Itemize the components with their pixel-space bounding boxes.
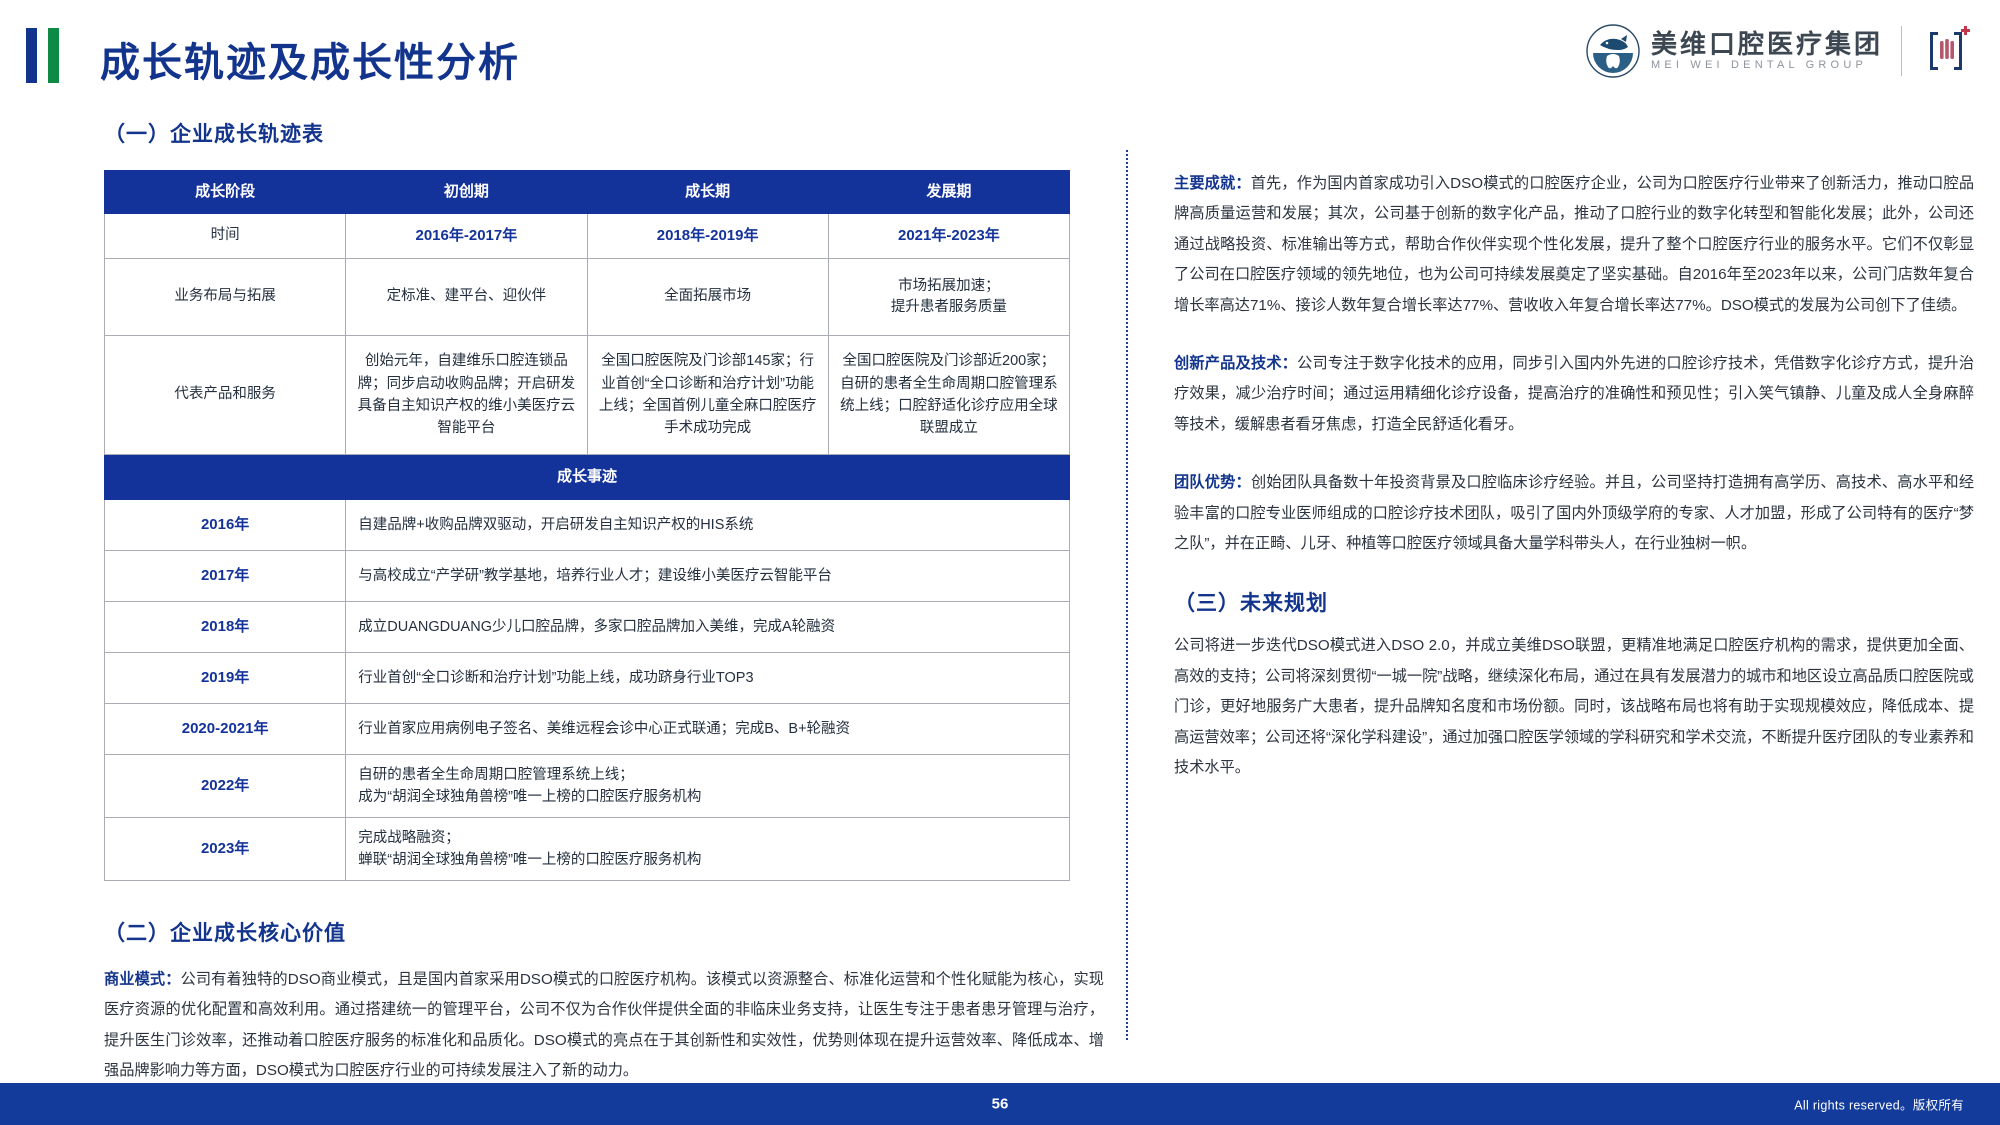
- timeline-event: 与高校成立“产学研”教学基地，培养行业人才；建设维小美医疗云智能平台: [346, 551, 1070, 602]
- paragraph-text-achievements: 首先，作为国内首家成功引入DSO模式的口腔医疗企业，公司为口腔医疗行业带来了创新…: [1174, 175, 1974, 314]
- paragraph-lead-business-model: 商业模式：: [104, 971, 181, 988]
- timeline-row: 2019年行业首创“全口诊断和治疗计划”功能上线，成功跻身行业TOP3: [105, 653, 1070, 704]
- paragraph-lead-innovation: 创新产品及技术：: [1174, 355, 1297, 372]
- table-cell: 全面拓展市场: [587, 259, 828, 336]
- timeline-event: 自建品牌+收购品牌双驱动，开启研发自主知识产权的HIS系统: [346, 500, 1070, 551]
- logo-name-en: MEI WEI DENTAL GROUP: [1651, 59, 1883, 72]
- timeline-year: 2016年: [105, 500, 346, 551]
- page-title: 成长轨迹及成长性分析: [100, 30, 520, 88]
- dental-monogram-icon: [1920, 24, 1972, 78]
- page-footer: 56 All rights reserved。版权所有: [0, 1083, 2000, 1125]
- table-header-cell: 成长阶段: [105, 171, 346, 214]
- timeline-year: 2020-2021年: [105, 704, 346, 755]
- table-row-label: 时间: [105, 214, 346, 259]
- paragraph-future-plan: 公司将进一步迭代DSO模式进入DSO 2.0，并成立美维DSO联盟，更精准地满足…: [1174, 631, 1974, 783]
- paragraph-team: 团队优势：创始团队具备数十年投资背景及口腔临床诊疗经验。并且，公司坚持打造拥有高…: [1174, 468, 1974, 559]
- right-column: 主要成就：首先，作为国内首家成功引入DSO模式的口腔医疗企业，公司为口腔医疗行业…: [1174, 155, 1974, 812]
- table-row: 业务布局与拓展定标准、建平台、迎伙伴全面拓展市场市场拓展加速；提升患者服务质量: [105, 259, 1070, 336]
- logo-name-cn: 美维口腔医疗集团: [1651, 30, 1883, 59]
- left-column: （一）企业成长轨迹表 成长阶段初创期成长期发展期时间2016年-2017年201…: [104, 118, 1104, 1102]
- timeline-row: 2016年自建品牌+收购品牌双驱动，开启研发自主知识产权的HIS系统: [105, 500, 1070, 551]
- paragraph-text-team: 创始团队具备数十年投资背景及口腔临床诊疗经验。并且，公司坚持打造拥有高学历、高技…: [1174, 474, 1974, 552]
- timeline-row: 2023年完成战略融资；蝉联“胡润全球独角兽榜”唯一上榜的口腔医疗服务机构: [105, 818, 1070, 881]
- section-heading-growth-table: （一）企业成长轨迹表: [104, 118, 1104, 148]
- table-cell: 2021年-2023年: [828, 214, 1069, 259]
- table-header-cell: 成长期: [587, 171, 828, 214]
- table-band-label: 成长事迹: [105, 455, 1070, 500]
- timeline-row: 2017年与高校成立“产学研”教学基地，培养行业人才；建设维小美医疗云智能平台: [105, 551, 1070, 602]
- paragraph-text-future-plan: 公司将进一步迭代DSO模式进入DSO 2.0，并成立美维DSO联盟，更精准地满足…: [1174, 637, 1974, 776]
- timeline-row: 2020-2021年行业首家应用病例电子签名、美维远程会诊中心正式联通；完成B、…: [105, 704, 1070, 755]
- paragraph-lead-achievements: 主要成就：: [1174, 175, 1251, 192]
- table-cell: 2018年-2019年: [587, 214, 828, 259]
- timeline-event: 行业首家应用病例电子签名、美维远程会诊中心正式联通；完成B、B+轮融资: [346, 704, 1070, 755]
- timeline-year: 2017年: [105, 551, 346, 602]
- section-heading-future-plan: （三）未来规划: [1174, 587, 1974, 617]
- paragraph-lead-team: 团队优势：: [1174, 474, 1251, 491]
- accent-bar-navy: [26, 28, 37, 83]
- timeline-event: 自研的患者全生命周期口腔管理系统上线；成为“胡润全球独角兽榜”唯一上榜的口腔医疗…: [346, 755, 1070, 818]
- table-band-row: 成长事迹: [105, 455, 1070, 500]
- paragraph-achievements: 主要成就：首先，作为国内首家成功引入DSO模式的口腔医疗企业，公司为口腔医疗行业…: [1174, 169, 1974, 321]
- logo-wordmark: 美维口腔医疗集团 MEI WEI DENTAL GROUP: [1651, 30, 1883, 72]
- table-row: 代表产品和服务创始元年，自建维乐口腔连锁品牌；同步启动收购品牌；开启研发具备自主…: [105, 336, 1070, 455]
- page-header: 成长轨迹及成长性分析 美维口腔医疗集团 MEI WEI DENTAL GROUP: [0, 0, 2000, 108]
- whale-tooth-badge-icon: [1585, 23, 1641, 79]
- paragraph-business-model: 商业模式：公司有着独特的DSO商业模式，且是国内首家采用DSO模式的口腔医疗机构…: [104, 965, 1104, 1087]
- table-header-cell: 初创期: [346, 171, 587, 214]
- table-cell: 2016年-2017年: [346, 214, 587, 259]
- growth-trajectory-table: 成长阶段初创期成长期发展期时间2016年-2017年2018年-2019年202…: [104, 170, 1070, 881]
- table-header-cell: 发展期: [828, 171, 1069, 214]
- table-row-label: 代表产品和服务: [105, 336, 346, 455]
- timeline-year: 2019年: [105, 653, 346, 704]
- timeline-row: 2022年自研的患者全生命周期口腔管理系统上线；成为“胡润全球独角兽榜”唯一上榜…: [105, 755, 1070, 818]
- table-row: 时间2016年-2017年2018年-2019年2021年-2023年: [105, 214, 1070, 259]
- paragraph-innovation: 创新产品及技术：公司专注于数字化技术的应用，同步引入国内外先进的口腔诊疗技术，凭…: [1174, 349, 1974, 440]
- timeline-event: 行业首创“全口诊断和治疗计划”功能上线，成功跻身行业TOP3: [346, 653, 1070, 704]
- table-cell: 创始元年，自建维乐口腔连锁品牌；同步启动收购品牌；开启研发具备自主知识产权的维小…: [346, 336, 587, 455]
- timeline-row: 2018年成立DUANGDUANG少儿口腔品牌，多家口腔品牌加入美维，完成A轮融…: [105, 602, 1070, 653]
- table-cell: 全国口腔医院及门诊部近200家；自研的患者全生命周期口腔管理系统上线；口腔舒适化…: [828, 336, 1069, 455]
- accent-bar-green: [48, 28, 59, 83]
- table-cell: 全国口腔医院及门诊部145家；行业首创“全口诊断和治疗计划”功能上线；全国首例儿…: [587, 336, 828, 455]
- footer-page-number: 56: [992, 1096, 1009, 1113]
- table-row-label: 业务布局与拓展: [105, 259, 346, 336]
- timeline-year: 2023年: [105, 818, 346, 881]
- footer-rights-text: All rights reserved。版权所有: [1794, 1095, 1964, 1114]
- timeline-event: 完成战略融资；蝉联“胡润全球独角兽榜”唯一上榜的口腔医疗服务机构: [346, 818, 1070, 881]
- table-cell: 市场拓展加速；提升患者服务质量: [828, 259, 1069, 336]
- timeline-year: 2022年: [105, 755, 346, 818]
- company-logo: 美维口腔医疗集团 MEI WEI DENTAL GROUP: [1585, 22, 1972, 80]
- column-divider: [1126, 150, 1128, 1040]
- timeline-event: 成立DUANGDUANG少儿口腔品牌，多家口腔品牌加入美维，完成A轮融资: [346, 602, 1070, 653]
- section-heading-core-value: （二）企业成长核心价值: [104, 917, 1104, 947]
- timeline-year: 2018年: [105, 602, 346, 653]
- paragraph-text-business-model: 公司有着独特的DSO商业模式，且是国内首家采用DSO模式的口腔医疗机构。该模式以…: [104, 971, 1104, 1079]
- table-cell: 定标准、建平台、迎伙伴: [346, 259, 587, 336]
- table-header-row: 成长阶段初创期成长期发展期: [105, 171, 1070, 214]
- logo-divider: [1901, 26, 1902, 76]
